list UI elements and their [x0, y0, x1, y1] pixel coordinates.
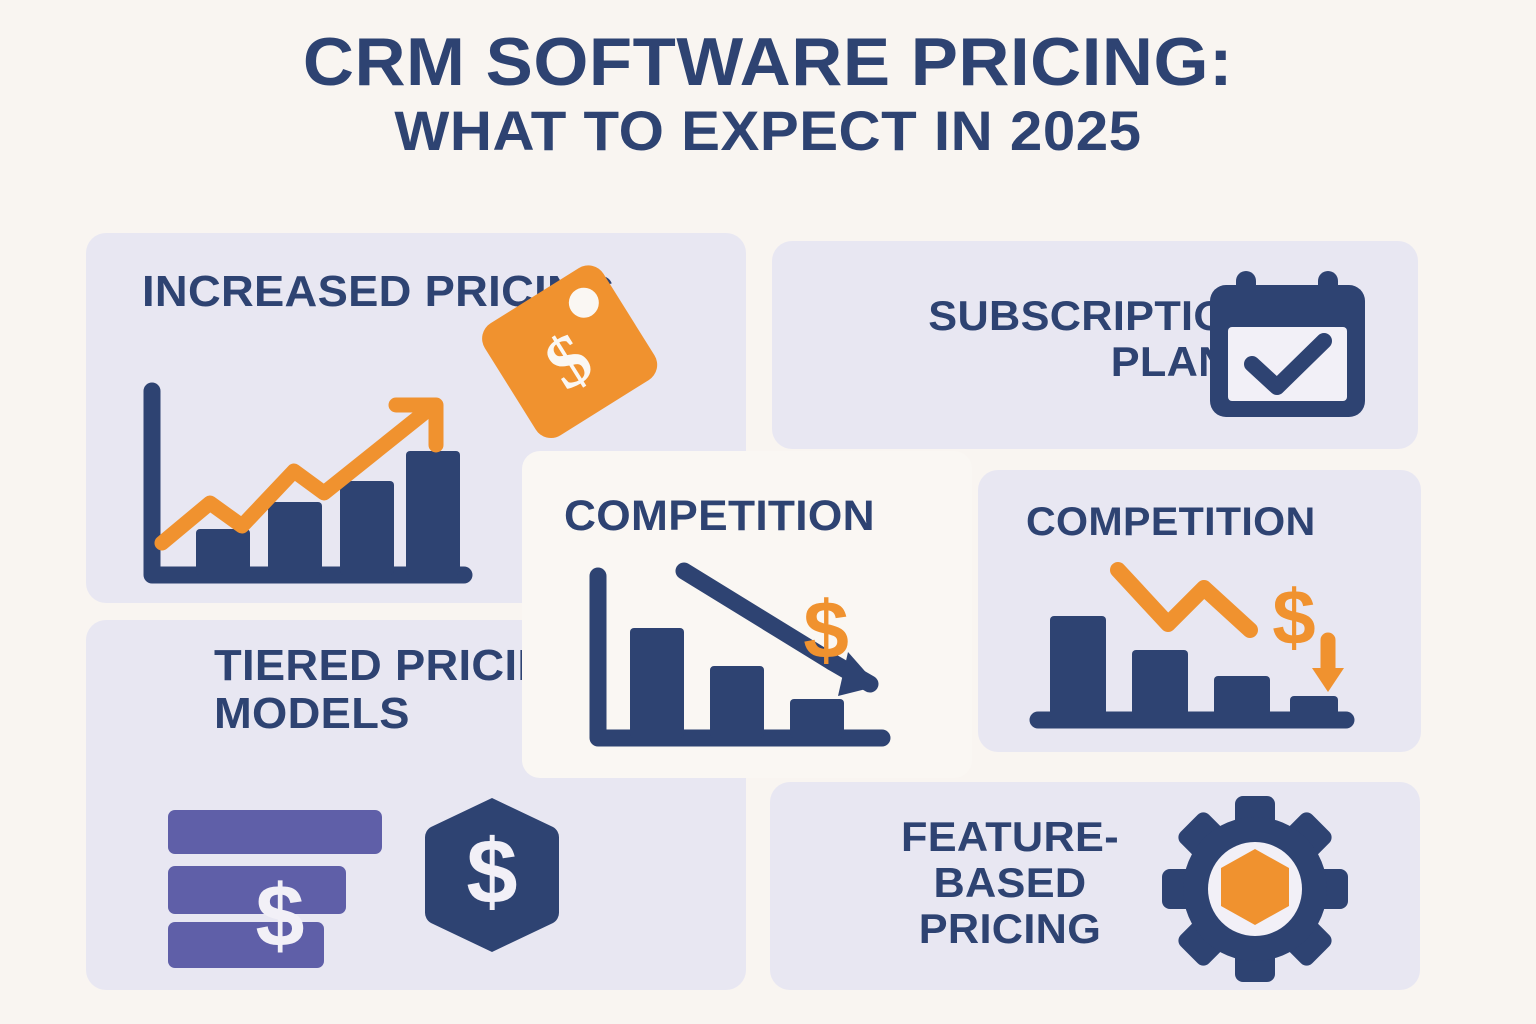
card-subscription-plans[interactable]: SUBSCRIPTION PLANS — [772, 241, 1418, 449]
dollar-sign-icon: $ — [1272, 573, 1315, 661]
svg-text:$: $ — [256, 866, 305, 965]
declining-line-icon — [1118, 570, 1250, 630]
card-competition-right-label: COMPETITION — [1026, 500, 1316, 544]
calendar-check-icon — [1200, 269, 1375, 429]
card-subscription-plans-label: SUBSCRIPTION PLANS — [816, 293, 1259, 385]
card-competition-center[interactable]: COMPETITION $ — [522, 451, 972, 778]
title-line-1: CRM SOFTWARE PRICING: — [0, 26, 1536, 98]
card-competition-center-label: COMPETITION — [564, 493, 875, 540]
tiered-bars-icon: $ — [168, 810, 428, 960]
gear-hexagon-icon — [1162, 796, 1348, 982]
bar-chart-down-icon: $ — [582, 566, 912, 756]
card-competition-right[interactable]: COMPETITION $ — [978, 470, 1421, 752]
bar-chart-down-icon: $ — [1026, 568, 1376, 738]
page-title: CRM SOFTWARE PRICING: WHAT TO EXPECT IN … — [0, 26, 1536, 164]
bar-chart-up-icon — [134, 383, 474, 593]
svg-text:$: $ — [466, 821, 517, 923]
infographic-canvas: CRM SOFTWARE PRICING: WHAT TO EXPECT IN … — [0, 0, 1536, 1024]
hexagon-dollar-icon: $ — [422, 795, 562, 955]
card-feature-based-pricing-label: FEATURE-BASED PRICING — [840, 814, 1180, 953]
price-tag-icon: $ — [486, 251, 666, 436]
title-line-2: WHAT TO EXPECT IN 2025 — [0, 98, 1536, 164]
dollar-sign-icon: $ — [803, 585, 849, 676]
card-feature-based-pricing[interactable]: FEATURE-BASED PRICING — [770, 782, 1420, 990]
down-arrow-icon — [1312, 640, 1344, 692]
